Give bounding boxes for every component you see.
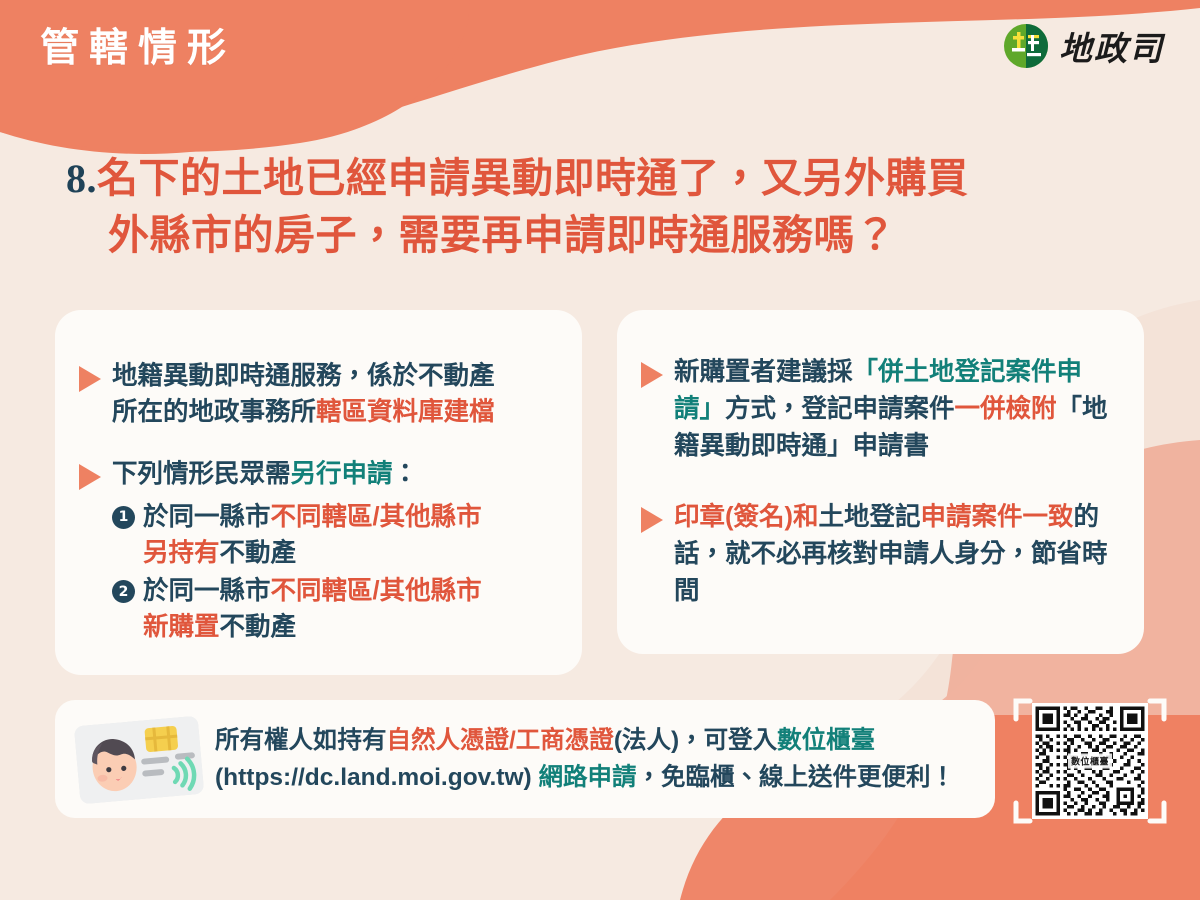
bullet-text: 地籍異動即時通服務，係於不動產 所在的地政事務所轄區資料庫建檔 [112, 358, 495, 430]
text-segment: 新購置者建議採 [674, 358, 853, 386]
triangle-bullet-icon [79, 366, 101, 392]
text-segment: 所有權人如持有 [215, 727, 387, 754]
land-administration-logo-icon [1003, 23, 1049, 69]
question-line-2: 外縣市的房子，需要再申請即時通服務嗎？ [108, 207, 1140, 264]
digital-counter-url[interactable]: (https://dc.land.moi.gov.tw) [215, 764, 532, 791]
bullet-group-2: 印章(簽名)和土地登記申請案件一致的話，就不必再核對申請人身分，節省時間 [641, 499, 1118, 610]
qr-center-label: 數位櫃臺 [1068, 754, 1112, 769]
content-cards: 地籍異動即時通服務，係於不動產 所在的地政事務所轄區資料庫建檔 下列情形民眾需另… [55, 310, 1145, 675]
card-right: 新購置者建議採「併土地登記案件申請」方式，登記申請案件一併檢附「地籍異動即時通」… [617, 310, 1144, 654]
number-badge-1: 1 [112, 506, 135, 529]
bullet-group-1: 新購置者建議採「併土地登記案件申請」方式，登記申請案件一併檢附「地籍異動即時通」… [641, 354, 1118, 465]
list-item: 1 於同一縣市不同轄區/其他縣市 另持有不動產 [112, 499, 556, 571]
bullet-text: 新購置者建議採「併土地登記案件申請」方式，登記申請案件一併檢附「地籍異動即時通」… [674, 354, 1118, 465]
text-segment-highlight: 一併檢附 [955, 395, 1057, 423]
text-segment: 方式，登記申請案件 [725, 395, 955, 423]
text-segment-highlight: 數位櫃臺 [777, 727, 875, 754]
triangle-bullet-icon [79, 464, 101, 490]
question-line-1: 8.名下的土地已經申請異動即時通了，又另外購買 [108, 150, 1140, 207]
bullet-item: 下列情形民眾需另行申請： 1 於同一縣市不同轄區/其他縣市 另持有不動產 2 [79, 456, 556, 645]
text-segment-highlight: 自然人憑證/工商憑證 [387, 727, 614, 754]
bullet-item: 新購置者建議採「併土地登記案件申請」方式，登記申請案件一併檢附「地籍異動即時通」… [641, 354, 1118, 465]
triangle-bullet-icon [641, 507, 663, 533]
text-segment-highlight: 新購置 [143, 613, 220, 641]
sub-item-list: 1 於同一縣市不同轄區/其他縣市 另持有不動產 2 於同一縣市不同轄區/其他縣市… [112, 499, 556, 646]
bullet-item: 印章(簽名)和土地登記申請案件一致的話，就不必再核對申請人身分，節省時間 [641, 499, 1118, 610]
text-segment: 於同一縣市 [143, 577, 271, 605]
footer-line-2: (https://dc.land.moi.gov.tw) 網路申請，免臨櫃、線上… [215, 759, 955, 796]
qr-code-block[interactable]: 數位櫃臺 [1012, 697, 1168, 825]
footer-banner: 所有權人如持有自然人憑證/工商憑證(法人)，可登入數位櫃臺 (https://d… [55, 700, 995, 818]
text-segment: 不動產 [220, 539, 297, 567]
text-segment-highlight: 印章(簽名)和 [674, 503, 818, 531]
id-card-icon [69, 707, 209, 811]
bullet-text: 印章(簽名)和土地登記申請案件一致的話，就不必再核對申請人身分，節省時間 [674, 499, 1118, 610]
page-title: 管轄情形 [40, 28, 236, 71]
bullet-group-1: 地籍異動即時通服務，係於不動產 所在的地政事務所轄區資料庫建檔 [79, 358, 556, 430]
brand-name: 地政司 [1059, 22, 1164, 70]
text-segment-highlight: 不同轄區/其他縣市 [271, 503, 482, 531]
question-text-1: 名下的土地已經申請異動即時通了，又另外購買 [97, 155, 969, 201]
text-segment-highlight: 網路申請 [538, 764, 636, 791]
question-number: 8. [66, 156, 97, 201]
bullet-group-2: 下列情形民眾需另行申請： 1 於同一縣市不同轄區/其他縣市 另持有不動產 2 [79, 456, 556, 645]
triangle-bullet-icon [641, 362, 663, 388]
text-segment: ，免臨櫃、線上送件更便利！ [636, 764, 955, 791]
sub-item-text: 於同一縣市不同轄區/其他縣市 另持有不動產 [143, 499, 482, 571]
text-segment-highlight: 另持有 [143, 539, 220, 567]
text-segment: 地籍異動即時通服務，係於不動產 [112, 362, 495, 390]
sub-item-text: 於同一縣市不同轄區/其他縣市 新購置不動產 [143, 573, 482, 645]
page-header: 管轄情形 地政司 [0, 0, 1200, 120]
footer-text: 所有權人如持有自然人憑證/工商憑證(法人)，可登入數位櫃臺 (https://d… [215, 722, 955, 796]
bullet-text: 下列情形民眾需另行申請： [112, 456, 556, 492]
text-segment-highlight: 申請案件一致 [921, 503, 1074, 531]
text-segment: 土地登記 [818, 503, 920, 531]
card-left: 地籍異動即時通服務，係於不動產 所在的地政事務所轄區資料庫建檔 下列情形民眾需另… [55, 310, 582, 675]
text-segment: ： [393, 460, 419, 488]
text-segment-highlight: 另行申請 [291, 460, 393, 488]
text-segment: (法人)，可登入 [614, 727, 777, 754]
footer-line-1: 所有權人如持有自然人憑證/工商憑證(法人)，可登入數位櫃臺 [215, 722, 955, 759]
text-segment-highlight: 不同轄區/其他縣市 [271, 577, 482, 605]
brand-logo-group: 地政司 [1003, 22, 1164, 70]
list-item: 2 於同一縣市不同轄區/其他縣市 新購置不動產 [112, 573, 556, 645]
question-block: 8.名下的土地已經申請異動即時通了，又另外購買 外縣市的房子，需要再申請即時通服… [0, 150, 1200, 263]
text-segment: 下列情形民眾需 [112, 460, 291, 488]
text-segment: 所在的地政事務所 [112, 398, 316, 426]
text-segment-highlight: 轄區資料庫建檔 [316, 398, 495, 426]
number-badge-2: 2 [112, 580, 135, 603]
text-segment: 不動產 [220, 613, 297, 641]
bullet-item: 地籍異動即時通服務，係於不動產 所在的地政事務所轄區資料庫建檔 [79, 358, 556, 430]
text-segment: 於同一縣市 [143, 503, 271, 531]
